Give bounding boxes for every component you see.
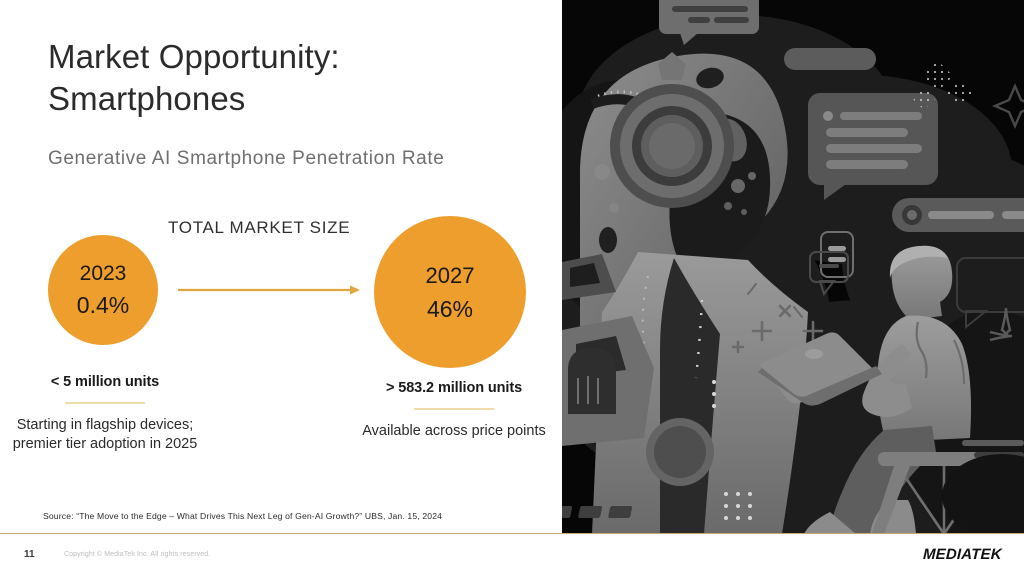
copyright-text: Copyright © MediaTek Inc. All rights res… — [64, 551, 210, 558]
start-percent-value: 0.4% — [77, 289, 129, 321]
page-title-line-1: Market Opportunity: — [48, 36, 528, 78]
search-bar-shape — [892, 198, 1024, 232]
end-percent-value: 46% — [427, 292, 473, 326]
illustration-panel — [562, 0, 1024, 534]
source-citation: Source: “The Move to the Edge – What Dri… — [43, 511, 442, 521]
chat-bubble-large-icon — [808, 93, 938, 200]
start-year-value: 2023 — [80, 259, 127, 289]
start-stat-description: Starting in flagship devices; premier ti… — [10, 416, 200, 454]
start-year-bubble: 2023 0.4% — [48, 235, 158, 345]
arrow-right-icon — [178, 284, 360, 296]
page-title: Market Opportunity: Smartphones — [48, 36, 528, 120]
ai-robot-illustration — [562, 0, 1024, 534]
footer-divider — [0, 533, 1024, 534]
end-stat-description: Available across price points — [358, 422, 550, 441]
start-stat-headline: < 5 million units — [10, 374, 200, 390]
page-number: 11 — [24, 549, 35, 560]
mediatek-logo: MEDIATEK — [923, 546, 1002, 563]
robot-body-illustration — [562, 252, 808, 534]
end-year-value: 2027 — [426, 259, 475, 292]
total-market-size-label: TOTAL MARKET SIZE — [168, 218, 350, 238]
page-subtitle: Generative AI Smartphone Penetration Rat… — [48, 146, 548, 172]
pill-bar-shape — [784, 48, 876, 70]
left-content-pane: Market Opportunity: Smartphones Generati… — [0, 0, 562, 576]
end-stat-headline: > 583.2 million units — [358, 380, 550, 396]
slide-root: Market Opportunity: Smartphones Generati… — [0, 0, 1024, 576]
end-stat-block: > 583.2 million units Available across p… — [358, 380, 550, 441]
page-title-line-2: Smartphones — [48, 78, 528, 120]
start-stat-block: < 5 million units Starting in flagship d… — [10, 374, 200, 454]
end-year-bubble: 2027 46% — [374, 216, 526, 368]
start-stat-divider — [65, 402, 145, 404]
end-stat-divider — [414, 408, 494, 410]
